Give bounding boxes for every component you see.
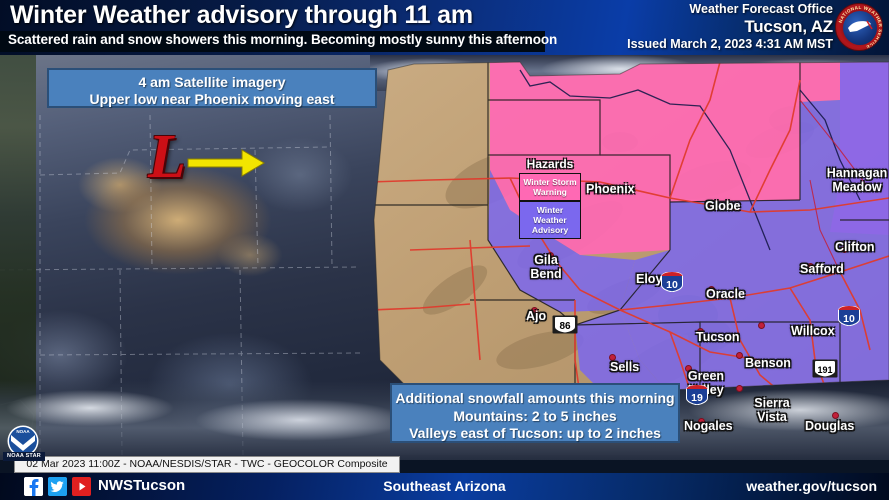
snowfall-line1: Additional snowfall amounts this morning — [392, 390, 678, 408]
weather-graphic: L 4 am Satellite imagery Upper low near … — [0, 0, 889, 500]
interstate-10-shield-east: 10 — [838, 306, 860, 326]
nws-seal-ring-text: NATIONAL WEATHER SERVICE — [836, 4, 883, 51]
satellite-caption: 02 Mar 2023 11:00Z - NOAA/NESDIS/STAR - … — [14, 456, 400, 473]
city-label-tucson: Tucson — [696, 330, 740, 344]
city-dot-douglas — [832, 412, 839, 419]
city-label-gila-bend-line2: Bend — [526, 267, 566, 281]
svg-text:191: 191 — [817, 365, 832, 375]
legend-winter-storm-warning: Winter Storm Warning — [519, 173, 581, 201]
city-label-ajo: Ajo — [526, 309, 546, 323]
svg-text:10: 10 — [666, 279, 678, 291]
footer-url[interactable]: weather.gov/tucson — [746, 478, 877, 494]
legend-winter-weather-advisory-line2: Advisory — [521, 225, 579, 235]
city-label-sierra-vista-line2: Vista — [748, 410, 796, 424]
city-dot-willcox — [758, 322, 765, 329]
svg-text:NATIONAL WEATHER SERVICE: NATIONAL WEATHER SERVICE — [838, 5, 883, 50]
page-subtitle: Scattered rain and snow showers this mor… — [8, 32, 557, 47]
snowfall-line2: Mountains: 2 to 5 inches — [392, 408, 678, 426]
city-label-gila-bend-line1: Gila — [526, 253, 566, 267]
svg-text:NOAA: NOAA — [16, 429, 30, 434]
office-city: Tucson, AZ — [573, 17, 833, 36]
legend-winter-storm-warning-line2: Warning — [521, 187, 579, 197]
city-dot-sierra-vista — [736, 385, 743, 392]
header-bar: Winter Weather advisory through 11 am Sc… — [0, 0, 889, 55]
hazards-legend: Hazards Winter Storm Warning Winter Weat… — [519, 157, 581, 239]
movement-arrow-icon — [186, 146, 266, 180]
city-label-hannagan-meadow-line2: Meadow — [826, 180, 888, 194]
svg-text:10: 10 — [843, 313, 855, 325]
office-label: Weather Forecast Office — [573, 2, 833, 17]
nws-seal-icon: NATIONAL WEATHER SERVICE — [835, 3, 883, 51]
footer-bar: NWSTucson Southeast Arizona weather.gov/… — [0, 473, 889, 500]
hazards-legend-title: Hazards — [519, 157, 581, 171]
city-label-sierra-vista: Sierra Vista — [748, 396, 796, 424]
legend-winter-weather-advisory-line1: Winter Weather — [521, 205, 579, 225]
us-86-shield: 86 — [552, 315, 578, 334]
satellite-info-box: 4 am Satellite imagery Upper low near Ph… — [47, 68, 377, 108]
interstate-10-shield-eloy: 10 — [661, 272, 683, 292]
legend-winter-weather-advisory: Winter Weather Advisory — [519, 201, 581, 239]
city-label-gila-bend: Gila Bend — [526, 253, 566, 281]
low-pressure-marker: L — [148, 126, 186, 188]
city-label-willcox: Willcox — [791, 324, 835, 338]
us-191-shield: 191 — [812, 359, 838, 378]
snowfall-info-box: Additional snowfall amounts this morning… — [390, 383, 680, 443]
city-label-hannagan-meadow-line1: Hannagan — [826, 166, 888, 180]
header-office-block: Weather Forecast Office Tucson, AZ Issue… — [573, 2, 833, 52]
city-label-globe: Globe — [705, 199, 740, 213]
city-label-nogales: Nogales — [684, 419, 733, 433]
city-label-safford: Safford — [800, 262, 844, 276]
city-label-green-valley-line1: Green — [682, 369, 730, 383]
city-label-phoenix: Phoenix — [586, 182, 635, 196]
interstate-19-shield: 19 — [686, 385, 708, 405]
city-label-benson: Benson — [745, 356, 791, 370]
noaa-star-label: NOAA STAR — [3, 452, 45, 461]
city-label-clifton: Clifton — [835, 240, 875, 254]
svg-text:19: 19 — [691, 392, 703, 404]
issued-time: Issued March 2, 2023 4:31 AM MST — [573, 36, 833, 52]
satellite-info-line2: Upper low near Phoenix moving east — [49, 91, 375, 108]
city-label-eloy: Eloy — [636, 272, 662, 286]
satellite-info-line1: 4 am Satellite imagery — [49, 74, 375, 91]
snowfall-line3: Valleys east of Tucson: up to 2 inches — [392, 425, 678, 443]
legend-winter-storm-warning-line1: Winter Storm — [521, 177, 579, 187]
svg-text:86: 86 — [559, 321, 571, 332]
city-label-sierra-vista-line1: Sierra — [748, 396, 796, 410]
city-label-sells: Sells — [610, 360, 639, 374]
city-label-douglas: Douglas — [805, 419, 854, 433]
city-label-oracle: Oracle — [706, 287, 745, 301]
city-dot-benson — [736, 352, 743, 359]
city-label-hannagan-meadow: Hannagan Meadow — [826, 166, 888, 194]
page-title: Winter Weather advisory through 11 am — [10, 1, 473, 30]
